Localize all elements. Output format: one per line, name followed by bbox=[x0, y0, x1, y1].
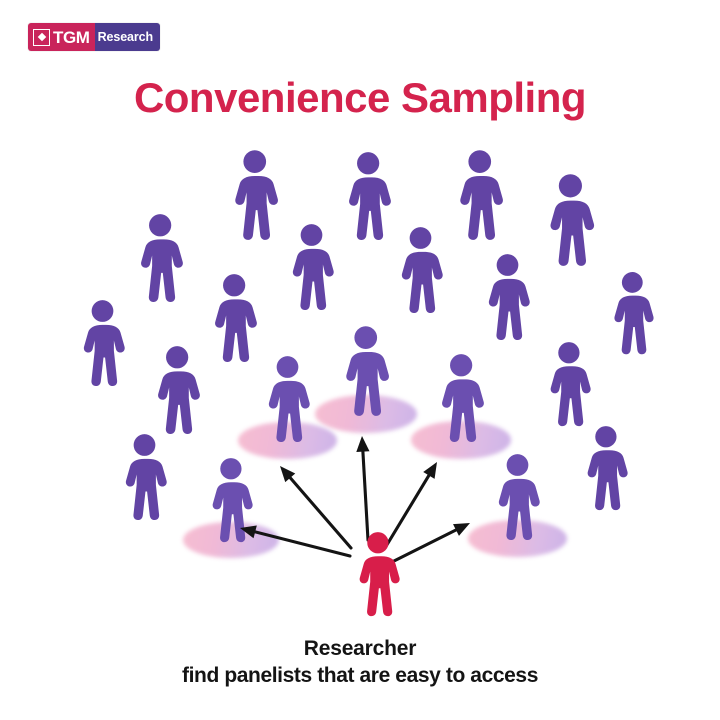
arrow-to-panelist-left-upper bbox=[280, 466, 351, 548]
infographic-canvas: TGM Research Convenience Sampling Resear… bbox=[0, 0, 720, 720]
caption-line-2: find panelists that are easy to access bbox=[0, 662, 720, 689]
caption-line-1: Researcher bbox=[0, 636, 720, 662]
arrow-to-panelist-center bbox=[356, 436, 369, 540]
researcher-figure[interactable] bbox=[350, 530, 406, 620]
caption-block: Researcher find panelists that are easy … bbox=[0, 636, 720, 690]
